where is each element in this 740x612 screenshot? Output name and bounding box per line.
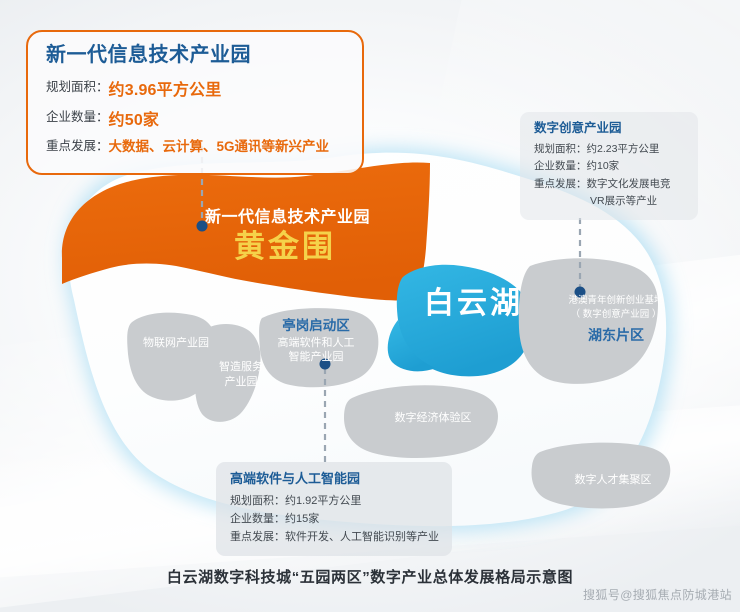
region-digital-talent [532, 443, 671, 509]
connector-dot-newgen-it [197, 221, 208, 232]
callout-digital-creative: 数字创意产业园 规划面积： 约2.23平方公里 企业数量： 约10家 重点发展：… [520, 112, 698, 220]
callout-row-value: 约50家 [109, 106, 346, 136]
callout-row-label: 企业数量： [534, 158, 587, 175]
callout-digital-creative-row-focus-cont: VR展示等产业 [534, 193, 685, 210]
callout-digital-creative-row-area: 规划面积： 约2.23平方公里 [534, 141, 685, 158]
callout-high-end-software-row-count: 企业数量： 约15家 [230, 510, 439, 528]
callout-row-value: 数字文化发展电竞 [587, 176, 686, 193]
callout-row-value: 约1.92平方公里 [285, 492, 439, 510]
callout-new-gen-it-row-count: 企业数量： 约50家 [46, 106, 346, 136]
callout-new-gen-it-row-area: 规划面积： 约3.96平方公里 [46, 76, 346, 106]
callout-digital-creative-row-focus: 重点发展： 数字文化发展电竞 [534, 176, 685, 193]
callout-row-label: 重点发展： [230, 528, 285, 546]
infographic-canvas: 物联网产业园 智造服务 产业园 亭岗启动区 高端软件和人工 智能产业园 数字经济… [0, 0, 740, 612]
callout-row-value: 约3.96平方公里 [109, 76, 346, 106]
callout-new-gen-it: 新一代信息技术产业园 规划面积： 约3.96平方公里 企业数量： 约50家 重点… [26, 30, 364, 175]
callout-row-value: 约15家 [285, 510, 439, 528]
callout-high-end-software-row-focus: 重点发展： 软件开发、人工智能识别等产业 [230, 528, 439, 546]
callout-digital-creative-title: 数字创意产业园 [534, 121, 685, 136]
callout-row-value: 软件开发、人工智能识别等产业 [285, 528, 439, 546]
region-digital-economy [344, 385, 498, 458]
callout-row-value: 约2.23平方公里 [587, 141, 686, 158]
callout-high-end-software-row-area: 规划面积： 约1.92平方公里 [230, 492, 439, 510]
callout-row-value: 约10家 [587, 158, 686, 175]
callout-row-label: 企业数量： [46, 106, 109, 136]
callout-new-gen-it-title: 新一代信息技术产业园 [46, 44, 346, 67]
figure-caption: 白云湖数字科技城“五园两区”数字产业总体发展格局示意图 [0, 566, 740, 587]
callout-digital-creative-row-count: 企业数量： 约10家 [534, 158, 685, 175]
callout-high-end-software-title: 高端软件与人工智能园 [230, 471, 439, 487]
callout-row-label: 规划面积： [230, 492, 285, 510]
source-watermark: 搜狐号@搜狐焦点防城港站 [583, 586, 732, 603]
connector-dot-high-end-software [320, 359, 331, 370]
connector-dot-digital-creative [575, 287, 586, 298]
callout-row-label: 规划面积： [534, 141, 587, 158]
callout-row-value: VR展示等产业 [590, 195, 657, 207]
callout-row-value: 大数据、云计算、5G通讯等新兴产业 [109, 135, 346, 160]
callout-row-label: 规划面积： [46, 76, 109, 106]
region-tinggang [259, 308, 378, 387]
callout-row-label: 重点发展： [46, 135, 109, 160]
callout-row-label: 企业数量： [230, 510, 285, 528]
callout-new-gen-it-row-focus: 重点发展： 大数据、云计算、5G通讯等新兴产业 [46, 135, 346, 160]
callout-high-end-software: 高端软件与人工智能园 规划面积： 约1.92平方公里 企业数量： 约15家 重点… [216, 462, 452, 556]
callout-row-label: 重点发展： [534, 176, 587, 193]
